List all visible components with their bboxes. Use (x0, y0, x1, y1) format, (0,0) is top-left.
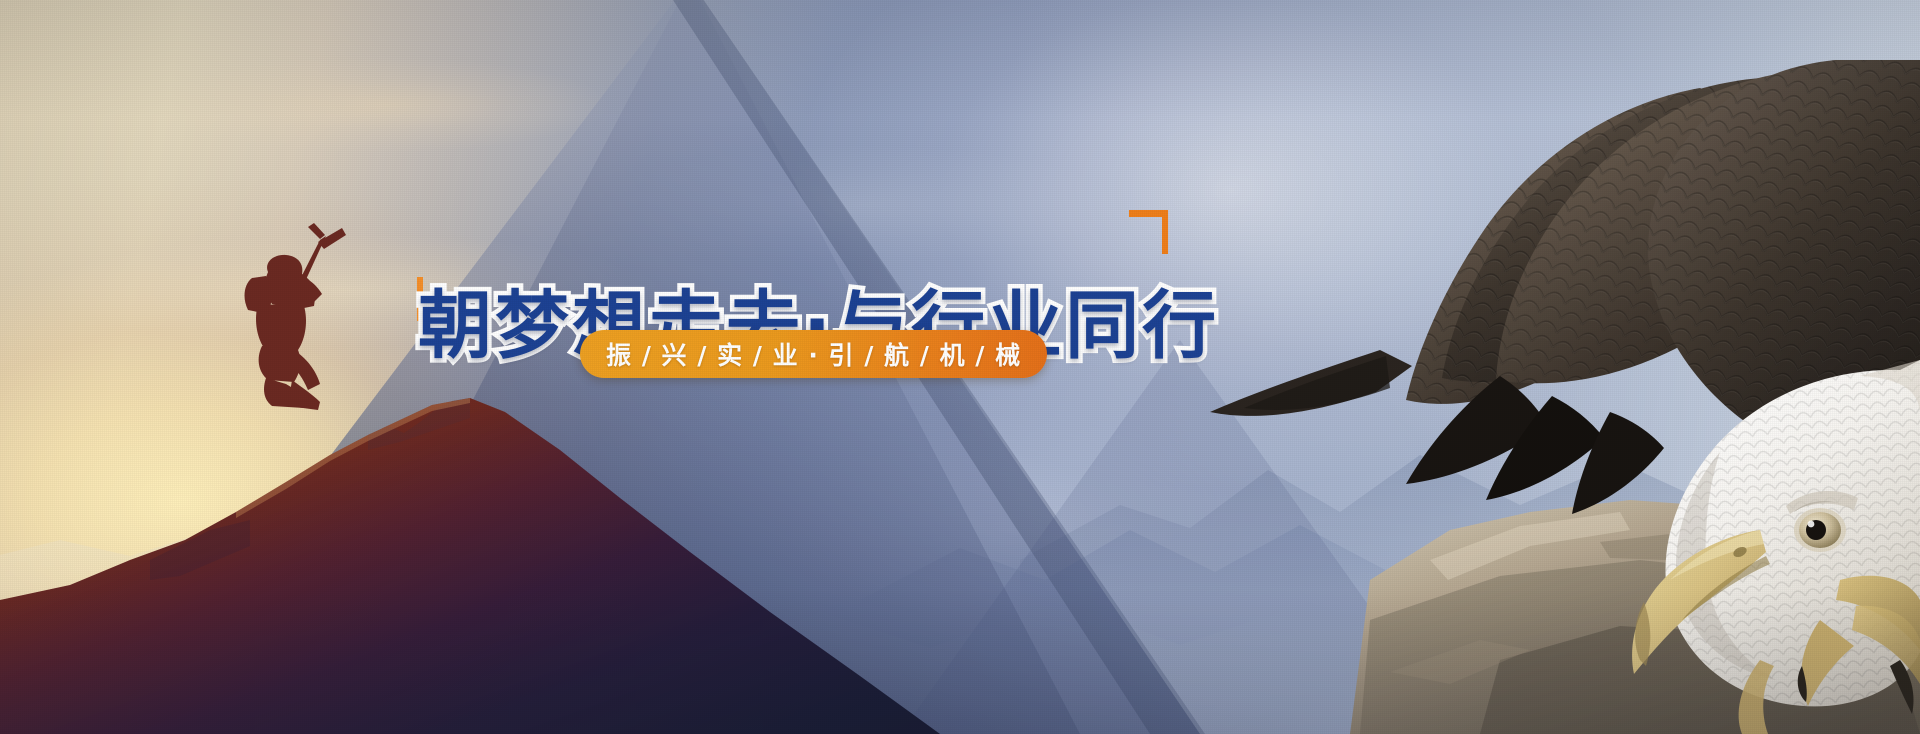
eagle-tail (1210, 350, 1412, 416)
status-badge: 振 / 兴 / 实 / 业 · 引 / 航 / 机 / 械 (580, 330, 1047, 378)
hero-banner: 朝梦想走去·与行业同行 振 / 兴 / 实 / 业 · 引 / 航 / 机 / … (0, 0, 1920, 734)
bald-eagle-photo (1200, 60, 1920, 734)
status-badge-label: 振 / 兴 / 实 / 业 · 引 / 航 / 机 / 械 (606, 336, 1021, 372)
climber-silhouette (228, 218, 398, 418)
corner-bracket-icon (1129, 210, 1175, 254)
eagle-head (1666, 360, 1920, 706)
banner-content: 朝梦想走去·与行业同行 振 / 兴 / 实 / 业 · 引 / 航 / 机 / … (404, 215, 1164, 405)
